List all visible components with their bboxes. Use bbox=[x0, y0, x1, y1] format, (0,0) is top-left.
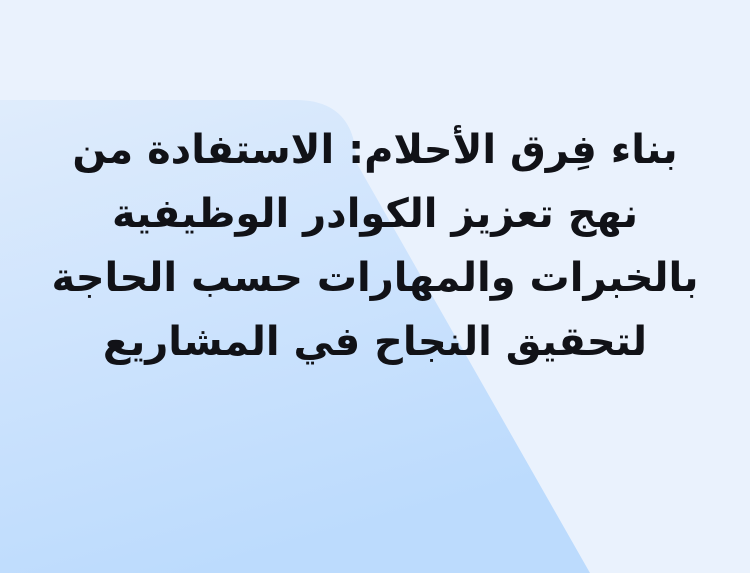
headline-line-1: بناء فِرق الأحلام: الاستفادة من bbox=[46, 118, 704, 182]
headline-line-4: لتحقيق النجاح في المشاريع bbox=[46, 310, 704, 374]
page-title: بناء فِرق الأحلام: الاستفادة من نهج تعزي… bbox=[0, 0, 750, 374]
headline-line-2: نهج تعزيز الكوادر الوظيفية bbox=[46, 182, 704, 246]
title-card: بناء فِرق الأحلام: الاستفادة من نهج تعزي… bbox=[0, 0, 750, 573]
headline-line-3: بالخبرات والمهارات حسب الحاجة bbox=[46, 246, 704, 310]
